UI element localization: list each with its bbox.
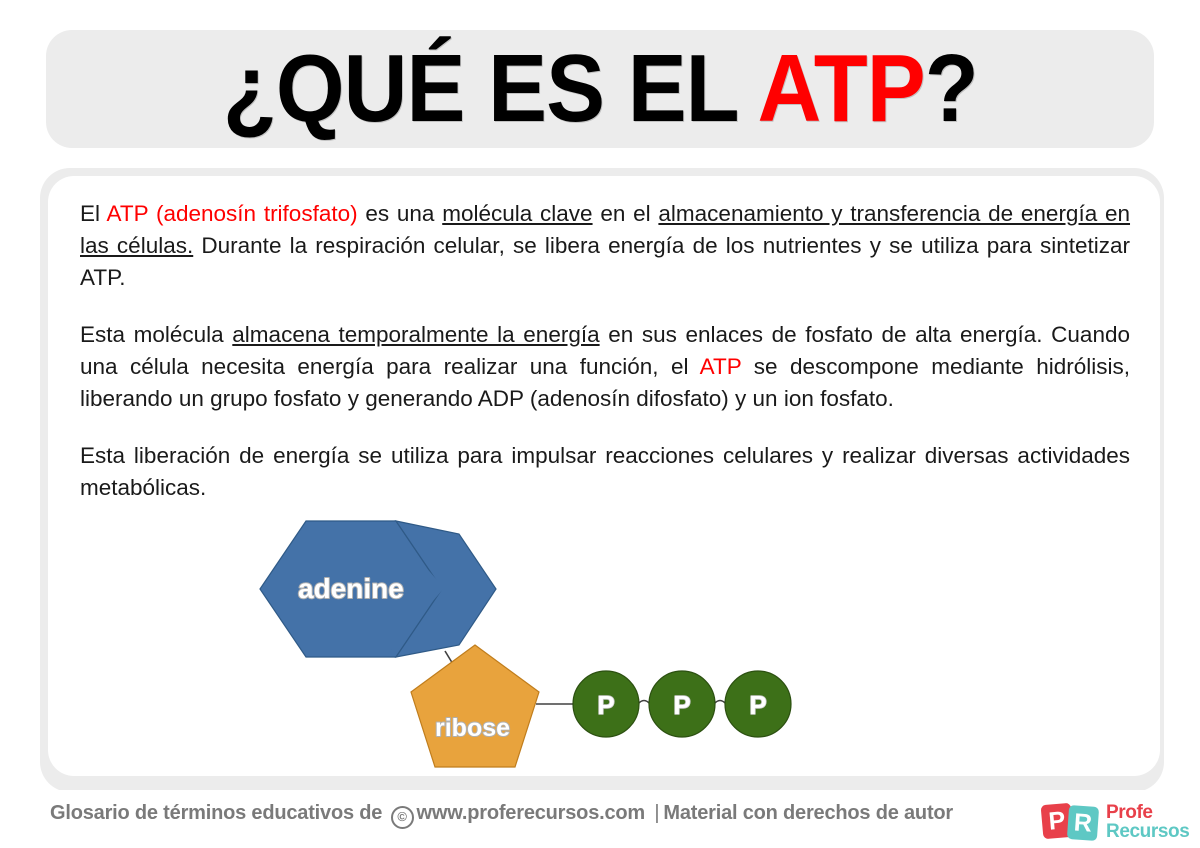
ribose-label: ribose	[435, 714, 510, 742]
p1-underline-molecula-clave: molécula clave	[442, 201, 592, 226]
p2-underline-almacena: almacena temporalmente la energía	[232, 322, 599, 347]
phosphate-label-1: P	[597, 690, 614, 720]
p1-seg7: Durante la respiración celular, se liber…	[80, 233, 1130, 290]
logo-tile-r: R	[1067, 805, 1099, 841]
adenine-shape: adenine	[260, 521, 496, 657]
page-title-prefix: ¿QUÉ ES EL	[222, 35, 757, 142]
paragraph-3: Esta liberación de energía se utiliza pa…	[80, 440, 1130, 504]
phosphate-label-2: P	[673, 690, 690, 720]
footer-separator: |	[650, 802, 663, 824]
article-body: El ATP (adenosín trifosfato) es una molé…	[80, 198, 1130, 504]
phosphate-group-2: P	[649, 671, 715, 737]
p2-atp-red: ATP	[700, 354, 742, 379]
page-title-suffix: ?	[924, 35, 977, 142]
phosphate-label-3: P	[749, 690, 766, 720]
footer-lead: Glosario de términos educativos de	[50, 802, 382, 824]
paragraph-2: Esta molécula almacena temporalmente la …	[80, 319, 1130, 415]
p1-seg1: El	[80, 201, 107, 226]
page-title: ¿QUÉ ES EL ATP?	[222, 41, 977, 137]
brand-logo[interactable]: P R Profe Recursos	[1042, 800, 1182, 846]
p1-seg5: en el	[593, 201, 659, 226]
page-title-accent: ATP	[757, 35, 924, 142]
adenine-label: adenine	[298, 573, 404, 604]
p1-seg3: es una	[358, 201, 443, 226]
logo-word-recursos: Recursos	[1106, 821, 1189, 843]
phosphate-group-3: P	[725, 671, 791, 737]
title-bar: ¿QUÉ ES EL ATP?	[46, 30, 1154, 148]
phosphate-group-1: P	[573, 671, 639, 737]
content-card: El ATP (adenosín trifosfato) es una molé…	[48, 176, 1160, 776]
footer-bar: Glosario de términos educativos de ©www.…	[0, 790, 1200, 848]
p2-seg1: Esta molécula	[80, 322, 232, 347]
copyright-icon: ©	[391, 806, 414, 829]
ribose-shape: ribose	[411, 645, 539, 767]
p3-seg1: Esta liberación de energía se utiliza pa…	[80, 443, 1130, 500]
ribose-pentagon	[411, 645, 539, 767]
footer-credit: Glosario de términos educativos de ©www.…	[50, 802, 953, 829]
footer-rights: Material con derechos de autor	[663, 802, 953, 824]
footer-site[interactable]: www.proferecursos.com	[417, 802, 645, 824]
atp-molecule-diagram: adenine ribose P P P	[238, 514, 958, 804]
p1-atp-red: ATP (adenosín trifosfato)	[107, 201, 358, 226]
paragraph-1: El ATP (adenosín trifosfato) es una molé…	[80, 198, 1130, 294]
